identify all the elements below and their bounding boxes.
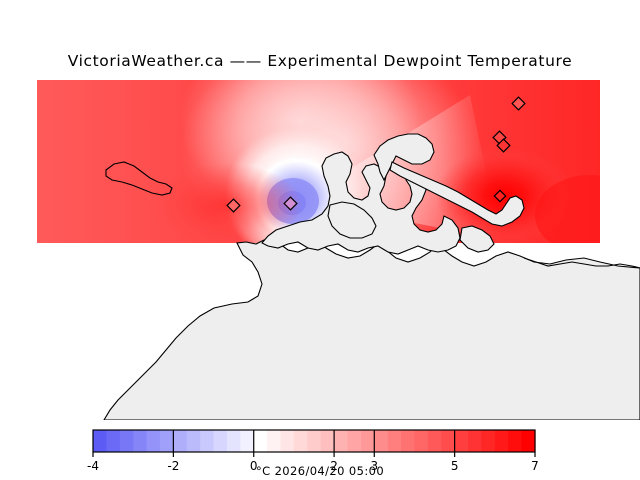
colorbar-swatch — [93, 430, 107, 452]
colorbar-swatch — [294, 430, 308, 452]
colorbar-swatch — [147, 430, 161, 452]
colorbar-swatch — [401, 430, 415, 452]
colorbar-swatch — [214, 430, 228, 452]
colorbar-swatch — [120, 430, 134, 452]
colorbar-swatch — [468, 430, 482, 452]
colorbar-swatch — [254, 430, 268, 452]
colorbar-swatch — [334, 430, 348, 452]
colorbar-swatch — [414, 430, 428, 452]
colorbar-caption: °C 2026/04/20 05:00 — [256, 464, 384, 478]
colorbar-swatch — [347, 430, 361, 452]
colorbar-swatch — [281, 430, 295, 452]
colorbar-swatch — [321, 430, 335, 452]
colorbar-tick-label: -4 — [87, 459, 99, 473]
colorbar-swatch — [361, 430, 375, 452]
colorbar-swatches — [93, 430, 536, 452]
colorbar-swatch — [173, 430, 187, 452]
colorbar-swatch — [428, 430, 442, 452]
colorbar-swatch — [187, 430, 201, 452]
colorbar-swatch — [455, 430, 469, 452]
colorbar-swatch — [133, 430, 147, 452]
dewpoint-map — [0, 0, 640, 420]
colorbar-tick-label: 7 — [531, 459, 539, 473]
colorbar-swatch — [374, 430, 388, 452]
colorbar-tick-label: 5 — [451, 459, 459, 473]
colorbar-swatch — [160, 430, 174, 452]
colorbar-tick-label: -2 — [167, 459, 179, 473]
colorbar-swatch — [508, 430, 522, 452]
colorbar-swatch — [481, 430, 495, 452]
field-warm-edge-east — [535, 175, 640, 255]
colorbar-swatch — [522, 430, 536, 452]
colorbar-swatch — [441, 430, 455, 452]
colorbar-svg: -4-202357 °C 2026/04/20 05:00 — [0, 420, 640, 480]
colorbar-swatch — [495, 430, 509, 452]
map-figure — [0, 0, 640, 420]
colorbar-swatch — [200, 430, 214, 452]
land-mainland — [104, 238, 640, 420]
colorbar-swatch — [106, 430, 120, 452]
colorbar-swatch — [240, 430, 254, 452]
colorbar: -4-202357 °C 2026/04/20 05:00 — [0, 420, 640, 480]
colorbar-swatch — [307, 430, 321, 452]
colorbar-swatch — [267, 430, 281, 452]
colorbar-swatch — [388, 430, 402, 452]
colorbar-swatch — [227, 430, 241, 452]
